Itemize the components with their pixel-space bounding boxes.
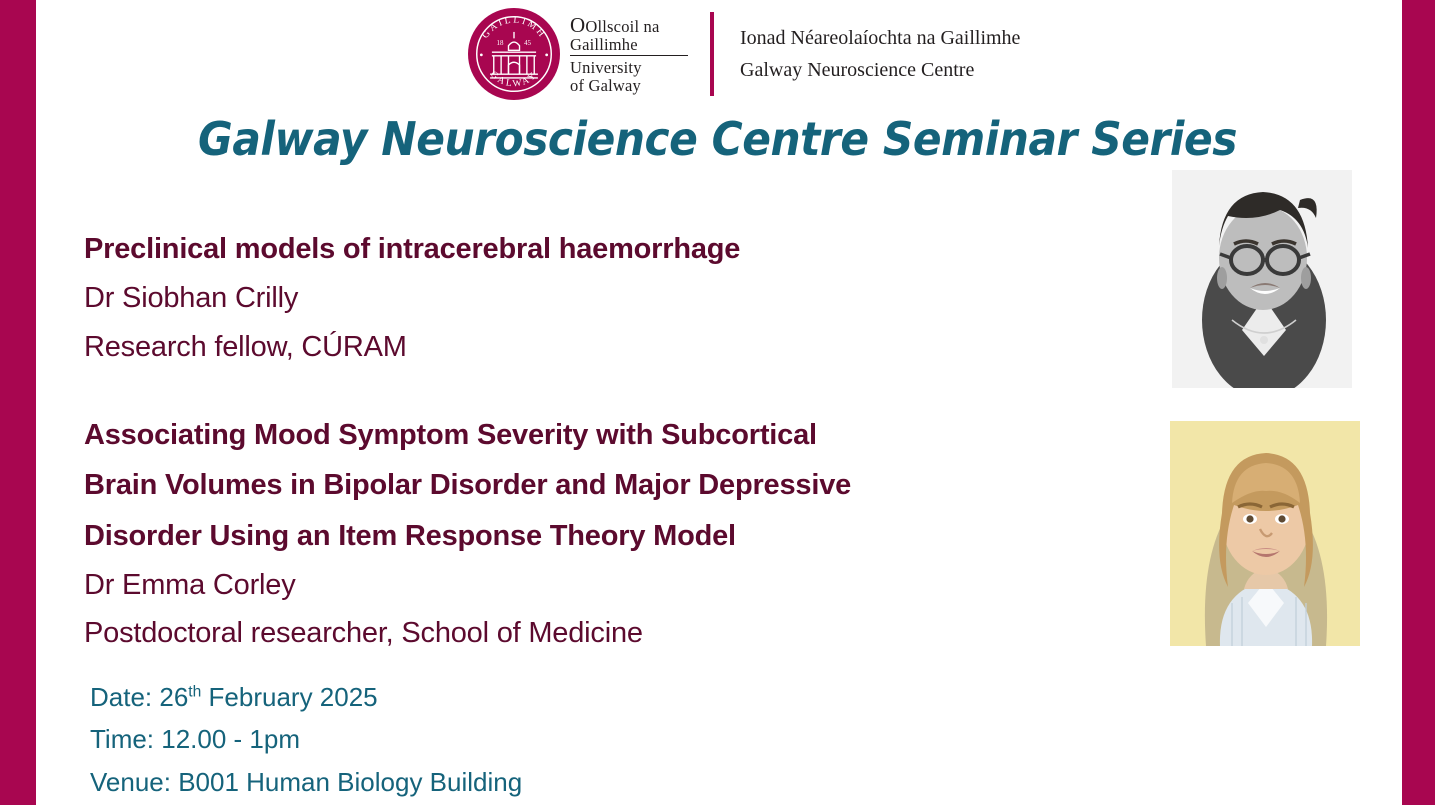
wordmark-english-line1: University [570,58,642,77]
wordmark-english-line2-wrap: of Galway [570,77,688,94]
left-accent-bar [0,0,36,805]
right-accent-bar [1402,0,1435,805]
speaker-photo-1 [1172,170,1352,388]
event-venue: Venue: B001 Human Biology Building [90,761,522,803]
talk-2-title-line-1: Associating Mood Symptom Severity with S… [84,410,851,460]
wordmark-irish-line2: Gaillimhe [570,35,638,54]
wordmark-rule [570,55,688,56]
svg-text:18: 18 [497,40,504,47]
speaker-photo-1-artwork [1172,170,1352,388]
talk-entry-1: Preclinical models of intracerebral haem… [84,224,740,371]
event-date: Date: 26th February 2025 [90,676,522,718]
university-wordmark: OOllscoil na Gaillimhe University of Gal… [570,14,688,95]
page-title: Galway Neuroscience Centre Seminar Serie… [57,112,1377,166]
header-divider [710,12,714,96]
wordmark-irish-line1: Ollscoil na [585,17,659,36]
talk-1-affiliation: Research fellow, CÚRAM [84,323,740,371]
centre-name-irish: Ionad Néareolaíochta na Gaillimhe [740,22,1020,54]
svg-text:45: 45 [524,40,531,47]
wordmark-english-line2: of Galway [570,76,641,95]
speaker-photo-2-artwork [1170,421,1360,646]
talk-entry-2: Associating Mood Symptom Severity with S… [84,410,851,658]
talk-1-speaker: Dr Siobhan Crilly [84,274,740,322]
event-details: Date: 26th February 2025 Time: 12.00 - 1… [90,676,522,803]
event-time: Time: 12.00 - 1pm [90,718,522,760]
talk-2-title-line-3: Disorder Using an Item Response Theory M… [84,511,851,561]
talk-2-affiliation: Postdoctoral researcher, School of Medic… [84,609,851,657]
speaker-photo-2 [1170,421,1360,646]
talk-2-title-line-2: Brain Volumes in Bipolar Disorder and Ma… [84,460,851,510]
talk-1-title: Preclinical models of intracerebral haem… [84,224,740,274]
centre-name-english: Galway Neuroscience Centre [740,54,1020,86]
talk-2-speaker: Dr Emma Corley [84,561,851,609]
event-date-rest: February 2025 [201,682,377,712]
wordmark-irish: OOllscoil na [570,14,688,36]
event-date-ordinal: th [188,683,201,700]
crest-artwork: GAILLIMH GALWAY 18 45 [468,8,560,100]
university-of-galway-crest-logo: GAILLIMH GALWAY 18 45 [468,8,560,100]
wordmark-english-line1-wrap: University [570,59,688,76]
event-date-label: Date: [90,682,159,712]
wordmark-irish-line2-wrap: Gaillimhe [570,36,688,53]
centre-name: Ionad Néareolaíochta na Gaillimhe Galway… [740,22,1020,87]
header: GAILLIMH GALWAY 18 45 OOllscoil na [468,8,1020,100]
event-date-day: 26 [159,682,188,712]
